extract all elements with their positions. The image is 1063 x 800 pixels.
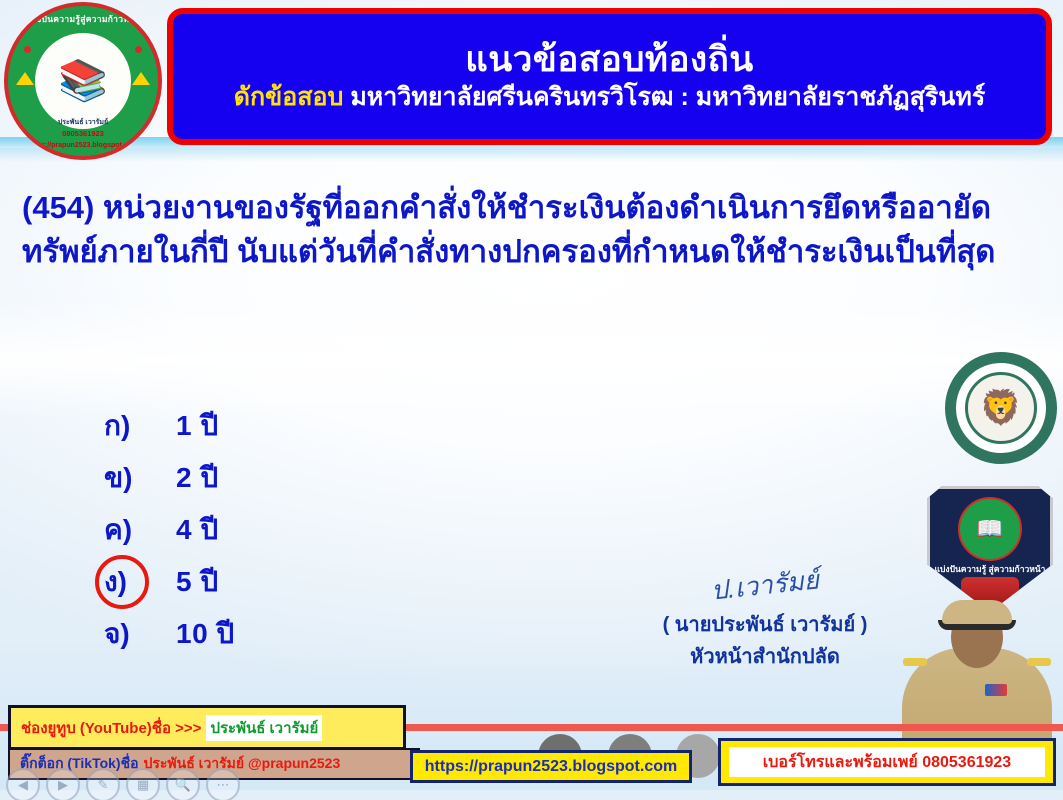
- youtube-channel-name: ประพันธ์ เวารัมย์: [206, 715, 322, 741]
- brand-logo-url: https://prapun2523.blogspot.com: [8, 142, 158, 149]
- bottom-toolbar: ◀ ▶ ✎ ▦ 🔍 ⋯: [6, 768, 240, 800]
- choice-key: ก): [104, 404, 160, 448]
- choice-value: 10 ปี: [176, 612, 235, 656]
- choice-list: ก) 1 ปี ข) 2 ปี ค) 4 ปี ง) 5 ปี จ) 10 ปี: [104, 400, 235, 660]
- books-icon: 📚: [58, 61, 108, 101]
- choice-key-circled: ง): [104, 560, 160, 604]
- choice-key: ค): [104, 508, 160, 552]
- search-icon[interactable]: 🔍: [166, 768, 200, 800]
- more-icon[interactable]: ⋯: [206, 768, 240, 800]
- cyan-accent-band-soft: [0, 148, 1063, 162]
- officer-epaulette-right: [1027, 658, 1051, 666]
- brand-logo-dot-left: [24, 46, 31, 53]
- dla-emblem-icon: 🦁: [945, 352, 1057, 464]
- officer-cap: [942, 600, 1012, 624]
- phone-banner[interactable]: เบอร์โทรและพร้อมเพย์ 0805361923: [718, 738, 1056, 786]
- star-icon-left: [16, 72, 34, 85]
- brand-logo-phone: 0805361923: [8, 129, 158, 138]
- signature-block: ป.เวารัมย์ ( นายประพันธ์ เวารัมย์ ) หัวห…: [620, 565, 910, 672]
- choice-item[interactable]: ค) 4 ปี: [104, 504, 235, 556]
- star-icon-right: [132, 72, 150, 85]
- forward-icon[interactable]: ▶: [46, 768, 80, 800]
- officer-epaulette-left: [903, 658, 927, 666]
- signature-role: หัวหน้าสำนักปลัด: [620, 640, 910, 672]
- shield-circle-icon: 📖: [958, 497, 1022, 561]
- slide-canvas: แบ่งปันความรู้สู่ความก้าวหน้า 📚 ประพันธ์…: [0, 0, 1063, 800]
- header-subtitle-text: มหาวิทยาลัยศรีนครินทรวิโรฒ : มหาวิทยาลัย…: [350, 83, 985, 111]
- choice-item-selected[interactable]: ง) 5 ปี: [104, 556, 235, 608]
- brand-logo-center: 📚: [35, 33, 131, 129]
- choice-key: ข): [104, 456, 160, 500]
- choice-value: 2 ปี: [176, 456, 219, 500]
- question-text: (454) หน่วยงานของรัฐที่ออกคำสั่งให้ชำระเ…: [22, 186, 1037, 274]
- header-title: แนวข้อสอบท้องถิ่น: [465, 41, 753, 80]
- choice-item[interactable]: ก) 1 ปี: [104, 400, 235, 452]
- back-icon[interactable]: ◀: [6, 768, 40, 800]
- brand-logo: แบ่งปันความรู้สู่ความก้าวหน้า 📚 ประพันธ์…: [4, 2, 162, 160]
- choice-value: 1 ปี: [176, 404, 219, 448]
- brand-logo-name: ประพันธ์ เวารัมย์: [8, 117, 158, 128]
- choice-item[interactable]: จ) 10 ปี: [104, 608, 235, 660]
- grid-icon[interactable]: ▦: [126, 768, 160, 800]
- dla-lion-icon: 🦁: [965, 372, 1037, 444]
- header-subtitle-highlight: ดักข้อสอบ: [234, 83, 344, 111]
- choice-key: จ): [104, 612, 160, 656]
- header-banner: แนวข้อสอบท้องถิ่น ดักข้อสอบ มหาวิทยาลัยศ…: [167, 8, 1052, 145]
- choice-item[interactable]: ข) 2 ปี: [104, 452, 235, 504]
- youtube-banner[interactable]: ช่องยูทูบ (YouTube)ชื่อ >>> ประพันธ์ เวา…: [8, 705, 406, 750]
- youtube-label: ช่องยูทูบ (YouTube)ชื่อ >>>: [21, 716, 201, 740]
- header-subtitle: ดักข้อสอบ มหาวิทยาลัยศรีนครินทรวิโรฒ : ม…: [234, 83, 986, 112]
- choice-value: 4 ปี: [176, 508, 219, 552]
- pen-icon[interactable]: ✎: [86, 768, 120, 800]
- phone-text: เบอร์โทรและพร้อมเพย์ 0805361923: [729, 747, 1045, 777]
- brand-logo-dot-right: [135, 46, 142, 53]
- officer-chest-badge: [985, 684, 1007, 696]
- brand-logo-ring-text: แบ่งปันความรู้สู่ความก้าวหน้า: [8, 12, 158, 26]
- blog-url-banner[interactable]: https://prapun2523.blogspot.com: [410, 750, 692, 783]
- choice-value: 5 ปี: [176, 560, 219, 604]
- shield-badge-text: แบ่งปันความรู้ สู่ความก้าวหน้า: [935, 565, 1046, 574]
